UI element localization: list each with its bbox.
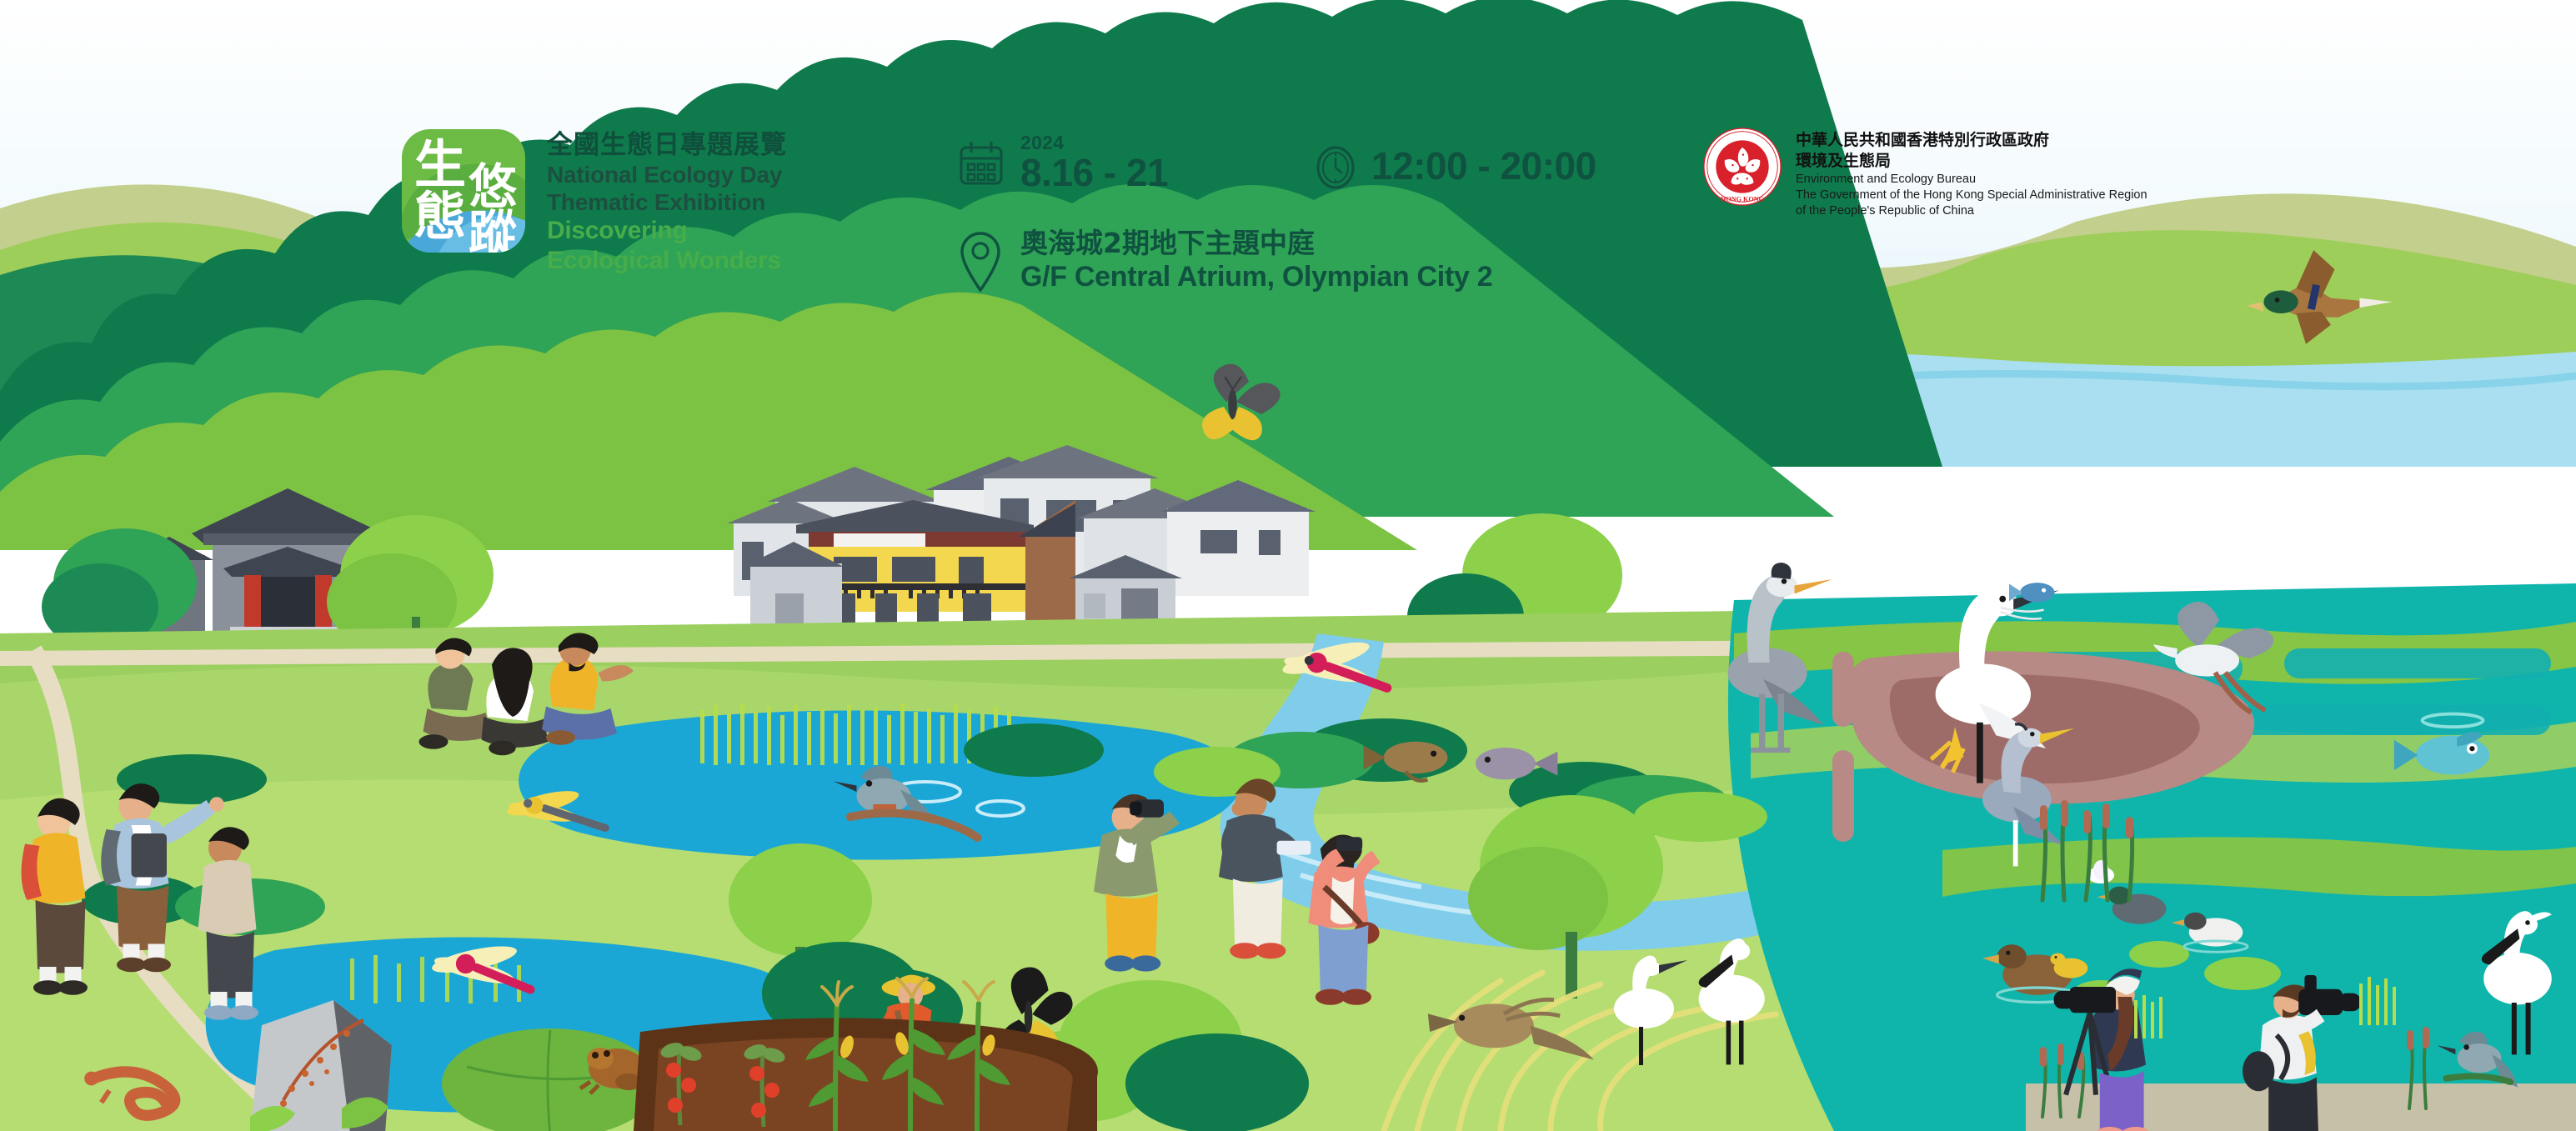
location-chinese: 奧海城2期地下主題中庭 (1020, 227, 1492, 260)
event-year: 2024 (1020, 133, 1168, 153)
poster-canvas: 生 態 悠 蹤 全國生態日專題展覽 National Ecology Day T… (0, 0, 2576, 1131)
location-english: G/F Central Atrium, Olympian City 2 (1020, 260, 1492, 293)
clock-icon (1313, 142, 1358, 190)
logo-char-2: 態 (414, 191, 466, 243)
title-english-line1: National Ecology Day (547, 161, 787, 188)
logo-and-title-block: 生 態 悠 蹤 全國生態日專題展覽 National Ecology Day T… (402, 129, 787, 276)
gov-english-line2: The Government of the Hong Kong Special … (1796, 188, 2148, 203)
logo-char-3: 悠 (469, 163, 517, 211)
calendar-icon (957, 139, 1005, 188)
event-location-block: 奧海城2期地下主題中庭 G/F Central Atrium, Olympian… (957, 227, 1492, 293)
exhibition-title: 全國生態日專題展覽 National Ecology Day Thematic … (547, 129, 787, 276)
logo-char-4: 蹤 (469, 209, 517, 253)
title-chinese: 全國生態日專題展覽 (547, 131, 787, 161)
tagline-line1: Discovering (547, 216, 787, 246)
gov-chinese-line2: 環境及生態局 (1796, 151, 2148, 172)
logo-char-1: 生 (414, 139, 466, 191)
gov-english-line1: Environment and Ecology Bureau (1796, 172, 2148, 188)
event-date-block: 2024 8.16 - 21 (957, 133, 1168, 193)
event-time-block: 12:00 - 20:00 (1313, 142, 1596, 190)
title-english-line2: Thematic Exhibition (547, 188, 787, 216)
eco-trail-logo: 生 態 悠 蹤 (402, 129, 525, 253)
gov-english-line3: of the People's Republic of China (1796, 203, 2148, 219)
tagline-line2: Ecological Wonders (547, 246, 787, 276)
gov-chinese-line1: 中華人民共和國香港特別行政區政府 (1796, 130, 2148, 151)
emblem-text: HONG KONG (1721, 195, 1765, 203)
map-pin-icon (957, 227, 1004, 293)
hksar-bauhinia-emblem: HONG KONG (1702, 127, 1782, 207)
event-time-range: 12:00 - 20:00 (1371, 146, 1596, 187)
event-date-range: 8.16 - 21 (1020, 153, 1168, 193)
government-logo-block: HONG KONG 中華人民共和國香港特別行政區政府 環境及生態局 Enviro… (1702, 127, 2148, 220)
poster-header: 生 態 悠 蹤 全國生態日專題展覽 National Ecology Day T… (0, 0, 2576, 333)
